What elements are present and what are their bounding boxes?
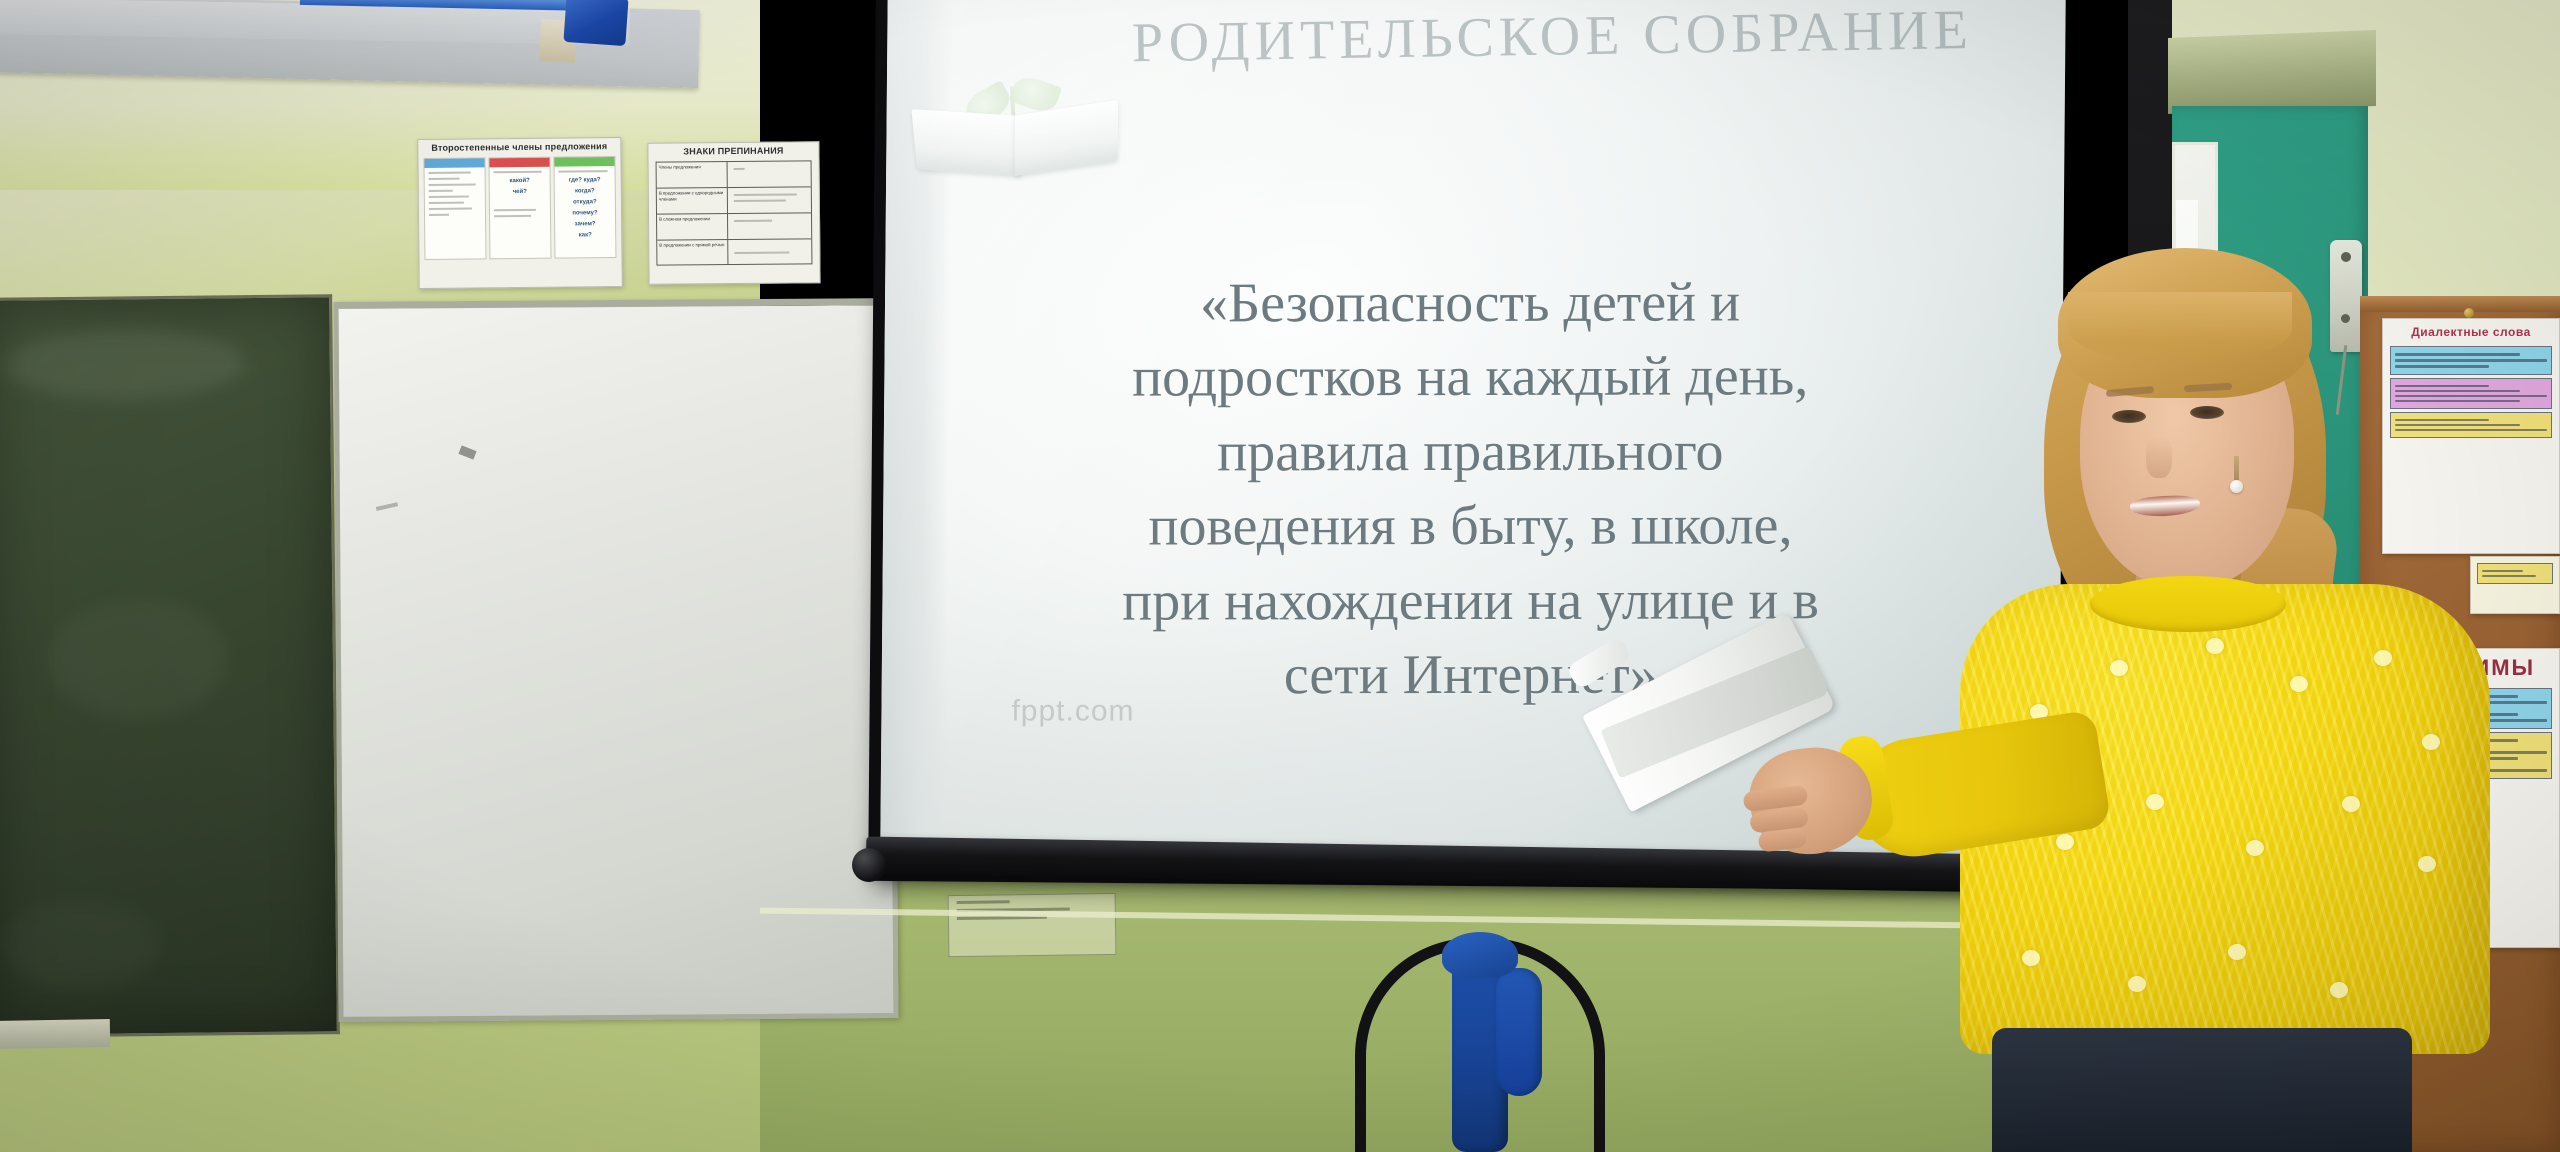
trousers bbox=[1992, 1028, 2412, 1152]
poster-punctuation-row-3: В сложном предложении bbox=[659, 216, 725, 222]
table-row: В предложении с прямой речью bbox=[657, 239, 811, 265]
slide-body-line-1: «Безопасность детей и bbox=[955, 265, 1985, 341]
poster-grammar-col-3-word-5: зачем? bbox=[555, 221, 615, 228]
eye-left bbox=[2112, 410, 2146, 423]
door-header-lintel bbox=[2168, 30, 2376, 114]
blue-cloth-loop bbox=[1496, 968, 1542, 1096]
slide-body-line-4: поведения в быту, в школе, bbox=[955, 488, 1985, 564]
poster-grammar-col-3-word-2: когда? bbox=[555, 188, 615, 195]
poster-punctuation-marks: ЗНАКИ ПРЕПИНАНИЯ Члены предложения В пре… bbox=[647, 141, 820, 284]
poster-punctuation-row-2: В предложении с однородными членами bbox=[659, 190, 725, 202]
table-row: Члены предложения bbox=[657, 162, 811, 189]
poster-grammar-col-1-header bbox=[424, 159, 484, 169]
pearl-earring bbox=[2230, 480, 2243, 493]
poster-grammar-col-3: где? куда? когда? откуда? почему? зачем?… bbox=[553, 156, 616, 259]
slide-body-text: «Безопасность детей и подростков на кажд… bbox=[955, 265, 1986, 714]
blue-cloth-knot bbox=[1442, 932, 1518, 978]
slide-title: РОДИТЕЛЬСКОЕ СОБРАНИЕ bbox=[1077, 0, 2028, 76]
sweater-collar bbox=[2090, 576, 2286, 632]
poster-grammar-col-3-header bbox=[554, 157, 614, 167]
presentation-slide: РОДИТЕЛЬСКОЕ СОБРАНИЕ «Безопасность дете… bbox=[880, 0, 2066, 863]
poster-punctuation-table: Члены предложения В предложении с одноро… bbox=[656, 161, 813, 266]
slide-body-line-3: правила правильного bbox=[955, 414, 1985, 490]
teacher-presenter bbox=[1940, 258, 2500, 1152]
book-sprout-icon bbox=[912, 87, 1126, 196]
poster-grammar-col-2: какой? чей? bbox=[488, 157, 551, 260]
table-row: В предложении с однородными членами bbox=[657, 187, 811, 214]
poster-grammar-secondary-members: Второстепенные члены предложения какой? … bbox=[417, 137, 623, 289]
poster-grammar-col-2-header bbox=[489, 158, 549, 168]
bangs bbox=[2068, 292, 2292, 364]
poster-grammar-col-2-word-2: чей? bbox=[490, 189, 550, 196]
poster-punctuation-row-1: Члены предложения bbox=[659, 164, 725, 170]
slide-body-line-2: подростков на каждый день, bbox=[955, 340, 1985, 416]
poster-grammar-col-3-word: где? куда? bbox=[555, 177, 615, 184]
small-wall-notice bbox=[948, 893, 1117, 957]
poster-punctuation-title: ЗНАКИ ПРЕПИНАНИЯ bbox=[648, 142, 818, 159]
eye-right bbox=[2190, 406, 2224, 419]
chalkboard bbox=[0, 294, 340, 1038]
slide-watermark: fppt.com bbox=[1011, 695, 1134, 729]
table-row: В сложном предложении bbox=[657, 213, 811, 240]
chalk-tray bbox=[0, 1019, 110, 1049]
nose bbox=[2146, 436, 2172, 478]
poster-punctuation-row-4: В предложении с прямой речью bbox=[659, 242, 725, 248]
poster-grammar-col-1 bbox=[423, 158, 486, 261]
poster-grammar-col-3-word-6: как? bbox=[555, 232, 615, 239]
poster-grammar-columns: какой? чей? где? куда? когда? откуда? по… bbox=[418, 153, 621, 263]
blue-mount-bracket bbox=[563, 0, 628, 46]
poster-grammar-col-2-word: какой? bbox=[490, 178, 550, 185]
poster-grammar-col-3-word-4: почему? bbox=[555, 210, 615, 217]
classroom-photo-scene: Второстепенные члены предложения какой? … bbox=[0, 0, 2560, 1152]
earring-drop bbox=[2234, 456, 2239, 482]
poster-grammar-col-3-word-3: откуда? bbox=[555, 199, 615, 206]
slide-body-line-5: при нахождении на улице и в bbox=[956, 563, 1986, 639]
